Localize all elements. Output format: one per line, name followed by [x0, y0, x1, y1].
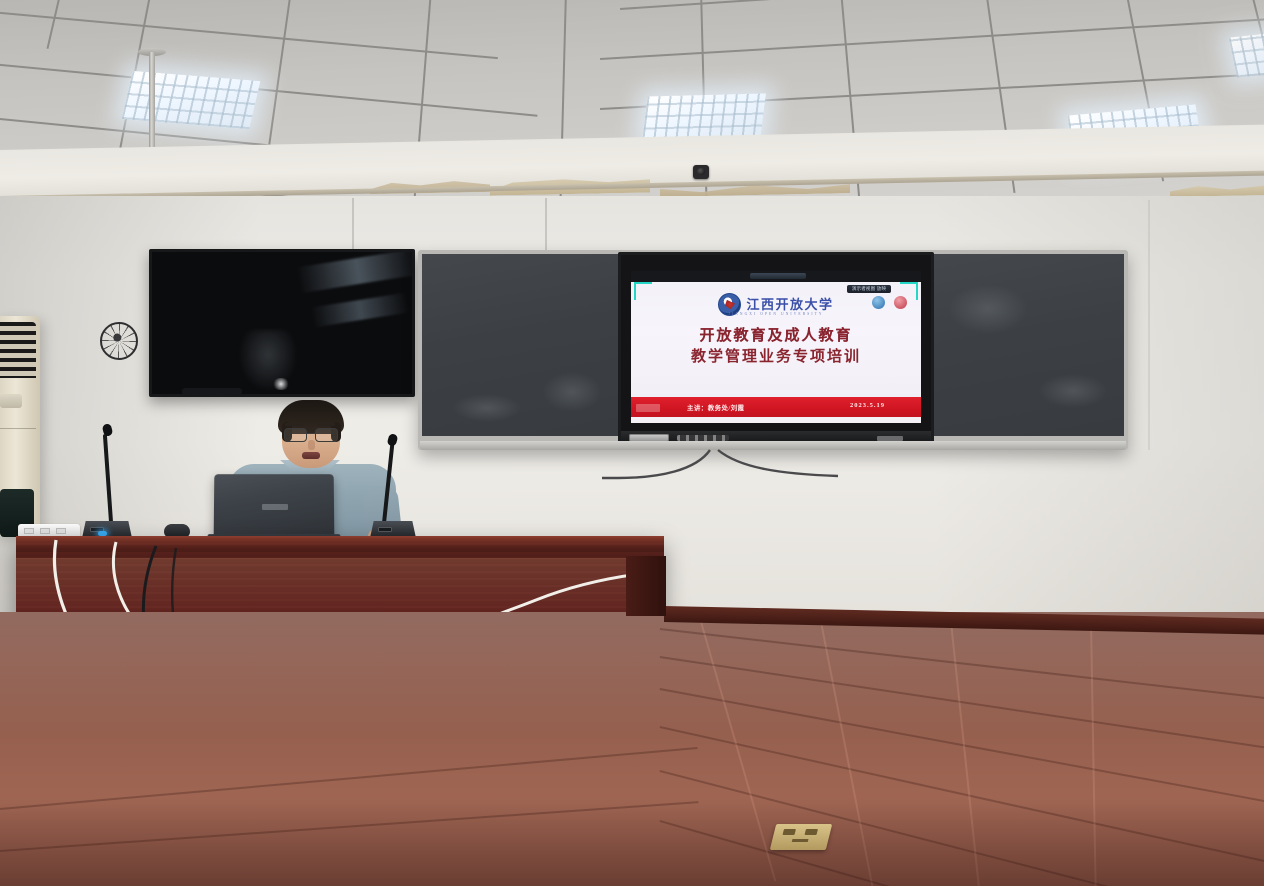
wall-seam-left	[352, 198, 354, 256]
tv-reflection-a	[297, 249, 415, 293]
slide-footer-badge	[636, 404, 660, 412]
floor	[0, 612, 1264, 886]
interactive-display[interactable]: 演示者视图 放映 江西开放大学 JIANGXI OPEN UNIVERSITY …	[618, 252, 934, 448]
presenter-brow-right	[317, 423, 335, 426]
floor-shadow	[0, 796, 1264, 886]
slide-title: 开放教育及成人教育 教学管理业务专项培训	[631, 326, 921, 367]
wall-speaker-icon	[693, 165, 709, 179]
slide-title-line2: 教学管理业务专项培训	[631, 347, 921, 368]
presenter-mouth	[302, 452, 320, 459]
floor-socket[interactable]	[770, 824, 832, 850]
presentation-toolbar-hint[interactable]: 演示者视图 放映	[847, 285, 891, 293]
gooseneck-microphone-left[interactable]	[82, 418, 142, 538]
presenter-nose	[308, 440, 315, 450]
tv-stand-nub	[182, 388, 242, 395]
board-assembly: 演示者视图 放映 江西开放大学 JIANGXI OPEN UNIVERSITY …	[418, 250, 1128, 450]
ceiling-light-panel-1	[122, 71, 261, 129]
presentation-slide[interactable]: 演示者视图 放映 江西开放大学 JIANGXI OPEN UNIVERSITY …	[631, 271, 921, 423]
slide-title-line1: 开放教育及成人教育	[631, 326, 921, 347]
lecture-room-photo: 演示者视图 放映 江西开放大学 JIANGXI OPEN UNIVERSITY …	[0, 0, 1264, 886]
ac-seam	[0, 428, 36, 429]
wall-mounted-tv[interactable]	[149, 249, 415, 397]
laptop-brand-logo	[262, 504, 288, 510]
presenter-laptop[interactable]	[214, 474, 335, 536]
university-name-cn: 江西开放大学	[746, 298, 833, 311]
display-wall-cable	[600, 448, 840, 488]
slide-top-widget	[750, 273, 806, 279]
tv-reflection-b	[311, 293, 409, 328]
ac-control-panel[interactable]	[0, 394, 22, 408]
wall-seam-right	[1148, 200, 1150, 450]
chalkboard-right	[928, 254, 1124, 436]
ceiling-light-panel-4	[1229, 30, 1264, 77]
gooseneck-microphone-right[interactable]	[358, 424, 418, 538]
desk-floor-shadow-panel	[626, 556, 666, 616]
university-name-en: JIANGXI OPEN UNIVERSITY	[631, 312, 921, 316]
slide-bottom-strip	[631, 417, 921, 423]
tv-highlight	[272, 378, 290, 390]
glasses-icon	[283, 428, 339, 440]
slide-date-text: 2023.5.19	[850, 402, 885, 409]
ceiling-camera-pole	[149, 52, 155, 158]
wall-fan-icon	[100, 322, 138, 360]
ac-vent-grill	[0, 322, 36, 378]
presenter-brow-left	[285, 423, 303, 426]
slide-presenter-text: 主讲：教务处/刘霞	[687, 402, 744, 412]
slide-top-bar	[631, 271, 921, 282]
chalkboard-left	[422, 254, 618, 436]
wall-seam-mid	[545, 198, 547, 256]
